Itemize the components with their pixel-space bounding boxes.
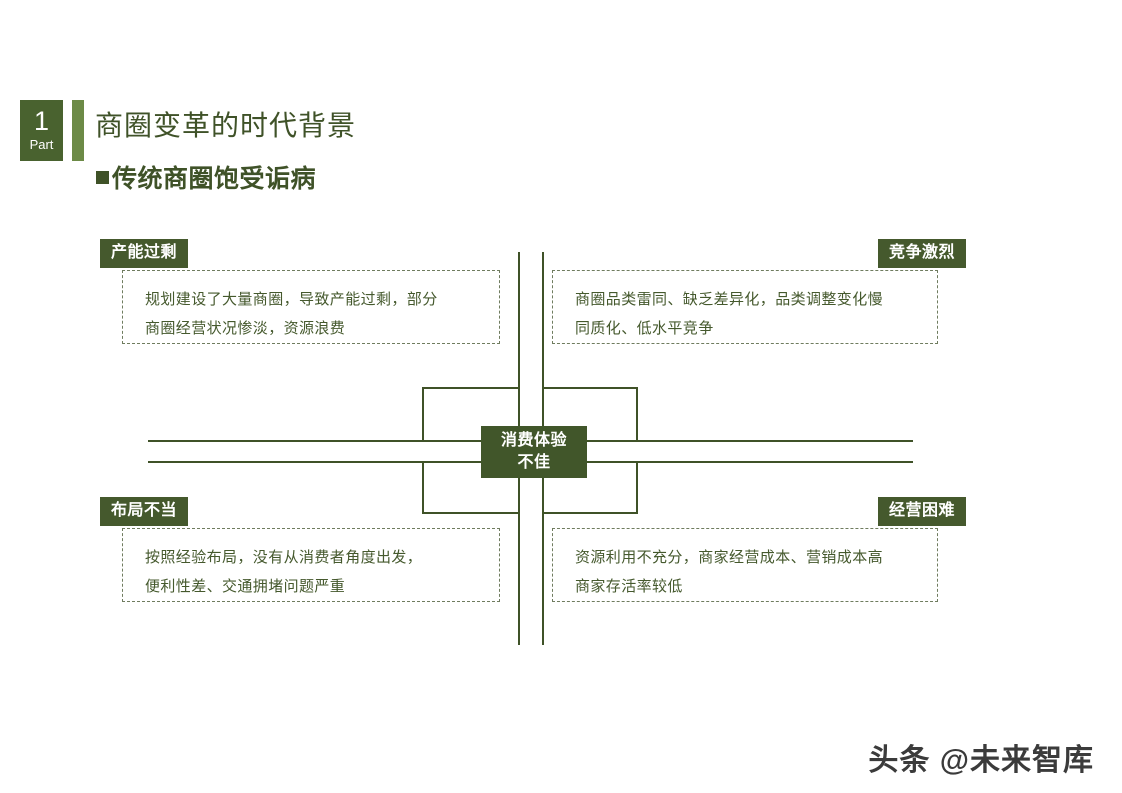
quadrant-card-bottom-left: 按照经验布局，没有从消费者角度出发， 便利性差、交通拥堵问题严重 [122,528,500,602]
card-line: 商圈经营状况惨淡，资源浪费 [145,314,485,343]
square-bullet-icon [96,171,109,184]
center-label-line1: 消费体验 [501,430,567,452]
quadrant-tag-bottom-left: 布局不当 [100,497,188,526]
part-badge: 1 Part [20,100,63,161]
part-word-label: Part [30,138,54,151]
center-label-line2: 不佳 [517,452,550,474]
subtitle-text: 传统商圈饱受诟病 [112,159,316,195]
part-number: 1 [34,108,49,135]
card-line: 商圈品类雷同、缺乏差异化，品类调整变化慢 [575,285,923,314]
card-line: 便利性差、交通拥堵问题严重 [145,572,485,601]
center-label-box: 消费体验 不佳 [481,426,587,478]
card-line: 同质化、低水平竞争 [575,314,923,343]
quadrant-tag-top-left: 产能过剩 [100,239,188,268]
quadrant-card-top-right: 商圈品类雷同、缺乏差异化，品类调整变化慢 同质化、低水平竞争 [552,270,938,344]
quadrant-card-top-left: 规划建设了大量商圈，导致产能过剩，部分 商圈经营状况惨淡，资源浪费 [122,270,500,344]
card-line: 商家存活率较低 [575,572,923,601]
part-accent-bar [72,100,84,161]
card-line: 规划建设了大量商圈，导致产能过剩，部分 [145,285,485,314]
watermark: 头条 @未来智库 [868,735,1094,779]
page-title: 商圈变革的时代背景 [95,104,356,144]
card-line: 资源利用不充分，商家经营成本、营销成本高 [575,543,923,572]
slide-canvas: 1 Part 商圈变革的时代背景 传统商圈饱受诟病 消费体验 不佳 产能过剩 规… [0,0,1122,793]
quadrant-tag-bottom-right: 经营困难 [878,497,966,526]
quadrant-tag-top-right: 竞争激烈 [878,239,966,268]
card-line: 按照经验布局，没有从消费者角度出发， [145,543,485,572]
subtitle-row: 传统商圈饱受诟病 [96,159,316,195]
quadrant-card-bottom-right: 资源利用不充分，商家经营成本、营销成本高 商家存活率较低 [552,528,938,602]
